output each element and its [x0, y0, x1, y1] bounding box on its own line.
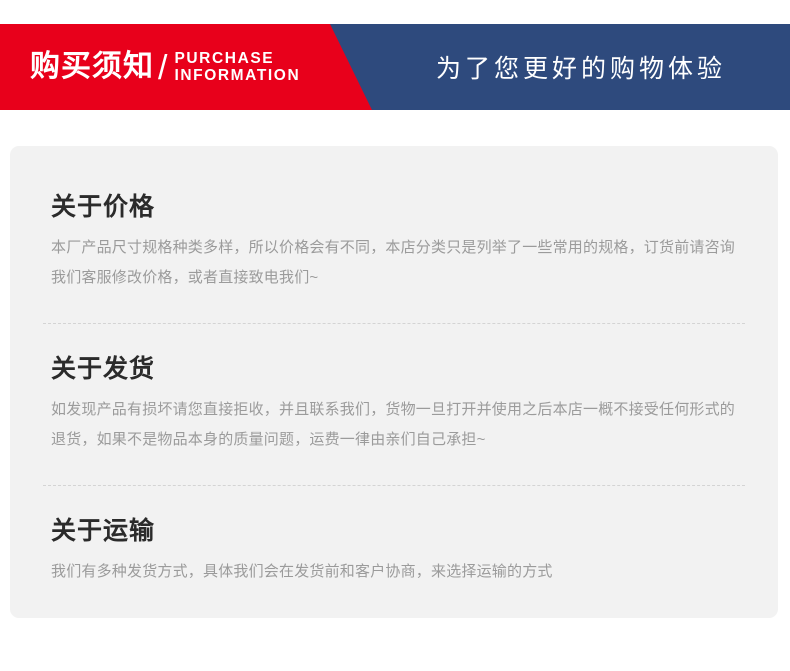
section-about-transport: 关于运输 我们有多种发货方式，具体我们会在发货前和客户协商，来选择运输的方式: [43, 486, 745, 587]
banner-subtitle-container: 为了您更好的购物体验: [372, 24, 790, 110]
banner-chinese-title: 购买须知: [30, 52, 154, 82]
section-body-shipping: 如发现产品有损坏请您直接拒收，并且联系我们，货物一旦打开并使用之后本店一概不接受…: [51, 395, 745, 455]
purchase-information-banner: 购买须知 / PURCHASE INFORMATION 为了您更好的购物体验: [0, 24, 790, 110]
banner-english-line-2: INFORMATION: [174, 67, 300, 84]
section-body-price: 本厂产品尺寸规格种类多样，所以价格会有不同，本店分类只是列举了一些常用的规格，订…: [51, 233, 745, 293]
banner-title-group: 购买须知 / PURCHASE INFORMATION: [30, 24, 300, 110]
banner-subtitle: 为了您更好的购物体验: [436, 49, 726, 85]
section-title-price: 关于价格: [51, 192, 745, 222]
banner-english-title-group: PURCHASE INFORMATION: [174, 50, 300, 85]
notice-panel: 关于价格 本厂产品尺寸规格种类多样，所以价格会有不同，本店分类只是列举了一些常用…: [10, 146, 778, 618]
section-title-shipping: 关于发货: [51, 354, 745, 384]
section-title-transport: 关于运输: [51, 516, 745, 546]
section-body-transport: 我们有多种发货方式，具体我们会在发货前和客户协商，来选择运输的方式: [51, 557, 745, 587]
section-about-price: 关于价格 本厂产品尺寸规格种类多样，所以价格会有不同，本店分类只是列举了一些常用…: [43, 146, 745, 324]
banner-english-line-1: PURCHASE: [174, 50, 300, 67]
banner-slash-divider: /: [158, 51, 167, 85]
section-about-shipping: 关于发货 如发现产品有损坏请您直接拒收，并且联系我们，货物一旦打开并使用之后本店…: [43, 324, 745, 486]
